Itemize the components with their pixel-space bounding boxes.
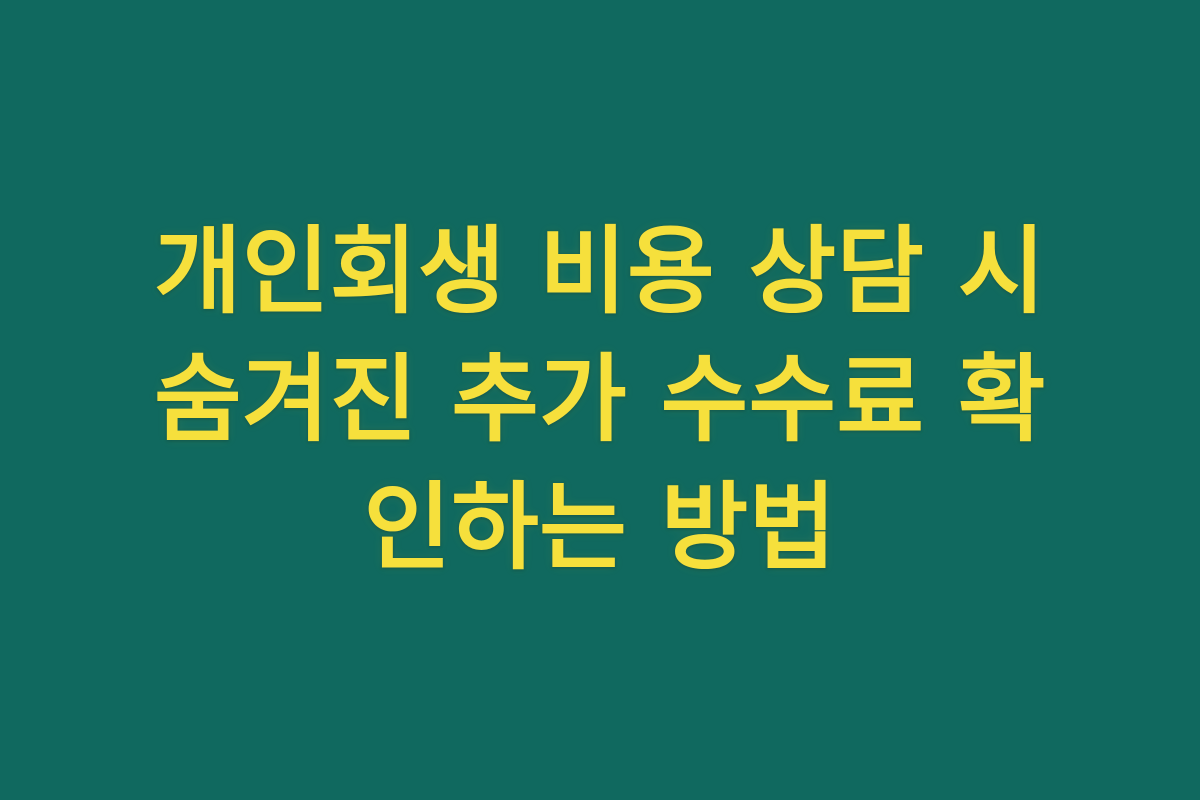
page-title: 개인회생 비용 상담 시 숨겨진 추가 수수료 확 인하는 방법	[0, 208, 1200, 592]
title-line-3: 인하는 방법	[90, 464, 1110, 592]
title-line-1: 개인회생 비용 상담 시	[90, 208, 1110, 336]
title-card-banner: 개인회생 비용 상담 시 숨겨진 추가 수수료 확 인하는 방법	[0, 0, 1200, 800]
title-line-2: 숨겨진 추가 수수료 확	[90, 336, 1110, 464]
